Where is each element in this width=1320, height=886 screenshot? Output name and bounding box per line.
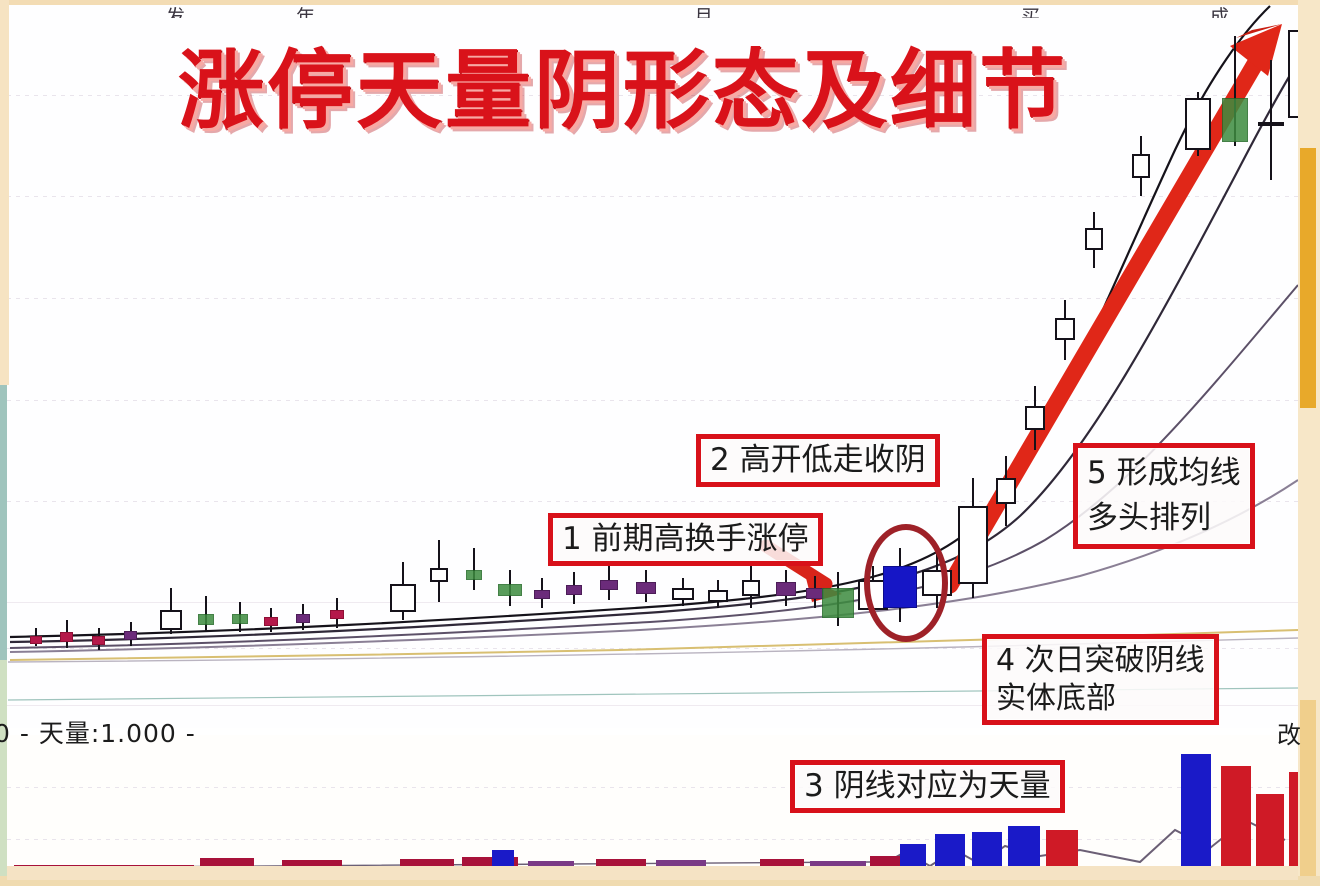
top-clipped-mark: 成 — [1210, 2, 1229, 18]
candle-body — [296, 614, 310, 623]
annotation-line: 实体底部 — [996, 680, 1205, 718]
right-edge-label: 改 — [1277, 715, 1317, 750]
volume-bar — [1181, 754, 1211, 870]
candle-body — [30, 636, 42, 644]
annotation-line: 1 前期高换手涨停 — [562, 521, 809, 558]
candle — [30, 628, 42, 646]
candle-body — [958, 506, 988, 584]
frame-border-right-accent — [1300, 148, 1316, 408]
gridline — [7, 298, 1298, 299]
candle-body — [92, 636, 105, 645]
candle-body — [996, 478, 1016, 504]
candle — [566, 572, 582, 604]
annotation-line: 5 形成均线 — [1087, 451, 1241, 496]
top-clipped-mark: 发 — [166, 2, 185, 18]
annotation-callout-5: 5 形成均线 多头排列 — [1073, 443, 1255, 549]
candle — [160, 588, 182, 634]
volume-bar — [1256, 794, 1284, 870]
candle — [124, 622, 137, 646]
frame-border-top — [0, 0, 1320, 5]
candle-wick — [1270, 60, 1272, 180]
candle — [708, 580, 728, 608]
gridline — [7, 839, 1298, 840]
volume-bar — [1046, 830, 1078, 870]
candle — [330, 598, 344, 628]
candle-wick — [473, 548, 475, 590]
annotation-line: 多头排列 — [1087, 496, 1241, 541]
candle-body — [742, 580, 760, 596]
candle-body — [708, 590, 728, 602]
candle — [198, 596, 214, 632]
candle-body — [534, 590, 550, 599]
candle-body — [1025, 406, 1045, 430]
candle — [1025, 386, 1045, 450]
candle-body — [430, 568, 448, 582]
candle-body — [390, 584, 416, 612]
frame-border-left — [0, 660, 7, 886]
frame-border-left — [0, 0, 9, 385]
candle — [742, 562, 760, 608]
candle-body — [672, 588, 694, 600]
candle-body — [1185, 98, 1211, 150]
candle-body — [60, 632, 73, 642]
candle — [92, 628, 105, 650]
top-clipped-mark: 买 — [1021, 2, 1040, 18]
candle — [430, 540, 448, 602]
candle-body — [1055, 318, 1075, 340]
annotation-line: 2 高开低走收阴 — [710, 442, 926, 479]
annotation-line: 3 阴线对应为天量 — [804, 768, 1051, 805]
candle-body — [198, 614, 214, 625]
candle-body — [822, 588, 854, 618]
top-clipped-mark: 月 — [694, 2, 713, 18]
candle — [232, 602, 248, 632]
volume-baseline — [7, 866, 1298, 880]
candle-body — [264, 617, 278, 626]
candle — [1055, 300, 1075, 360]
annotation-callout-3: 3 阴线对应为天量 — [790, 760, 1065, 813]
candle — [390, 562, 416, 620]
candle-body — [124, 631, 137, 640]
candle — [264, 608, 278, 632]
highlight-ellipse-marker — [864, 524, 948, 642]
candle-breakout — [958, 478, 988, 598]
candle-body — [466, 570, 482, 580]
candle — [466, 548, 482, 590]
gridline — [7, 196, 1298, 197]
top-clipped-mark: 年 — [296, 2, 315, 18]
candle-body — [160, 610, 182, 630]
volume-bar — [1008, 826, 1040, 870]
candle-limit-up — [822, 572, 854, 626]
annotation-callout-1: 1 前期高换手涨停 — [548, 513, 823, 566]
volume-bar — [935, 834, 965, 870]
candle-body — [1132, 154, 1150, 178]
candle-doji — [1258, 60, 1284, 180]
candle — [996, 456, 1016, 526]
frame-border-left — [0, 385, 7, 675]
volume-bar — [972, 832, 1002, 870]
candle-body — [232, 614, 248, 624]
candle — [1132, 136, 1150, 196]
candle-body — [498, 584, 522, 596]
candle-body — [1085, 228, 1103, 250]
candle-body — [330, 610, 344, 619]
volume-bar — [1221, 766, 1251, 870]
annotation-callout-2: 2 高开低走收阴 — [696, 434, 940, 487]
candle — [60, 620, 73, 648]
candle — [776, 570, 796, 606]
candle-body — [1222, 98, 1248, 142]
candle — [498, 570, 522, 606]
page-title: 涨停天量阴形态及细节 — [178, 48, 1018, 134]
candle — [1185, 92, 1211, 156]
candle-body — [776, 582, 796, 596]
candle-body — [1258, 122, 1284, 126]
gridline — [7, 400, 1298, 401]
candle — [672, 578, 694, 606]
candle-body — [600, 580, 618, 590]
volume-axis-label: 0 - 天量:1.000 - — [0, 714, 196, 750]
gridline — [7, 787, 1298, 788]
candle — [1085, 212, 1103, 268]
candle — [636, 570, 656, 602]
candle — [600, 566, 618, 600]
candle — [534, 578, 550, 608]
candle-body — [636, 582, 656, 594]
candle — [296, 604, 310, 630]
candle-body — [566, 585, 582, 595]
chart-image: 发 年 月 买 成 涨停天量阴形态及细节 1 前期高换手涨停 2 高开低走收阴 … — [0, 0, 1320, 886]
candle-green-top — [1222, 36, 1248, 146]
annotation-line: 4 次日突破阴线 — [996, 642, 1205, 680]
annotation-callout-4: 4 次日突破阴线 实体底部 — [982, 634, 1219, 725]
